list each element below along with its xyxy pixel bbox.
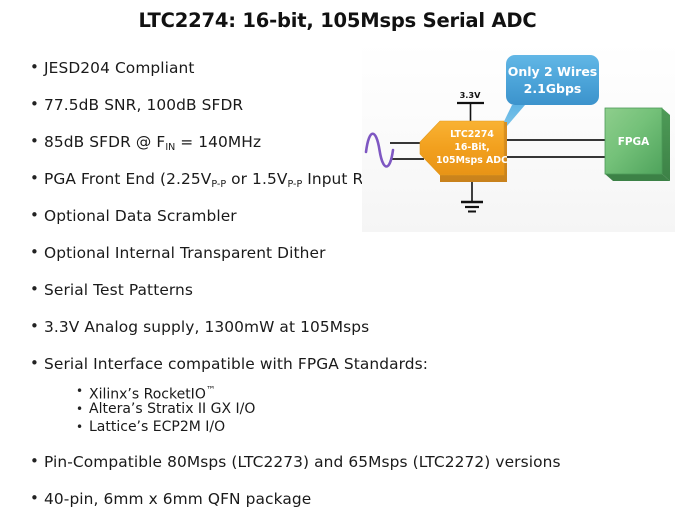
list-item-label: 40-pin, 6mm x 6mm QFN package (44, 489, 311, 509)
bullet-marker: • (30, 354, 44, 373)
list-item-label: 77.5dB SNR, 100dB SFDR (44, 95, 243, 115)
list-item-label: 85dB SFDR @ FIN = 140MHz (44, 132, 261, 155)
list-item: • Optional Internal Transparent Dither (30, 243, 670, 280)
bullet-marker: • (30, 280, 44, 299)
list-item-label: Optional Data Scrambler (44, 206, 237, 226)
list-item-label: Pin-Compatible 80Msps (LTC2273) and 65Ms… (44, 452, 561, 472)
callout-bubble: Only 2 Wires 2.1Gbps (495, 55, 599, 140)
bullet-marker: • (30, 58, 44, 77)
trademark-mark: ™ (206, 385, 216, 396)
bullet-marker: • (30, 132, 44, 151)
bullet-marker: • (30, 169, 44, 188)
fpga-block: FPGA (605, 108, 670, 181)
bullet-marker: • (30, 489, 44, 508)
fpga-label: FPGA (618, 136, 650, 148)
list-item: • 3.3V Analog supply, 1300mW at 105Msps (30, 317, 670, 354)
supply-rail: 3.3V (457, 90, 484, 121)
list-item: • Xilinx’s RocketIO™ (30, 382, 670, 400)
bullet-marker: • (76, 400, 89, 418)
block-diagram-svg: Only 2 Wires 2.1Gbps 3.3V LTC2274 16-Bit… (362, 42, 675, 232)
bullet-marker: • (30, 317, 44, 336)
list-item: • Serial Test Patterns (30, 280, 670, 317)
list-item: • Altera’s Stratix II GX I/O (30, 400, 670, 418)
bullet-marker: • (76, 418, 89, 436)
list-item: • Lattice’s ECP2M I/O (30, 418, 670, 436)
bullet-marker: • (30, 243, 44, 262)
subscript-pp: P-P (287, 179, 302, 190)
list-item-label: PGA Front End (2.25VP-P or 1.5VP-P Input… (44, 169, 408, 192)
adc-label-line-3: 105Msps ADC (436, 155, 508, 166)
text-part: or 1.5V (226, 170, 287, 188)
adc-block: LTC2274 16-Bit, 105Msps ADC (420, 121, 508, 182)
bullet-marker: • (76, 382, 89, 400)
sine-wave-icon (366, 134, 393, 167)
text-part: = 140MHz (175, 133, 261, 151)
list-item-label: Altera’s Stratix II GX I/O (89, 400, 255, 418)
text-part: 85dB SFDR @ F (44, 133, 165, 151)
callout-body (506, 55, 599, 105)
list-item-label: Serial Test Patterns (44, 280, 193, 300)
fpga-side-face (662, 108, 670, 181)
text-part: PGA Front End (2.25V (44, 170, 211, 188)
page-title: LTC2274: 16-bit, 105Msps Serial ADC (0, 9, 675, 32)
block-diagram: Only 2 Wires 2.1Gbps 3.3V LTC2274 16-Bit… (362, 42, 675, 232)
callout-line-1: Only 2 Wires (508, 64, 598, 79)
list-item-label: JESD204 Compliant (44, 58, 195, 78)
fpga-bottom-face (605, 174, 670, 181)
list-item: • Serial Interface compatible with FPGA … (30, 354, 670, 382)
supply-voltage-label: 3.3V (460, 90, 482, 100)
list-item-label: Serial Interface compatible with FPGA St… (44, 354, 428, 374)
adc-label-line-2: 16-Bit, (454, 142, 489, 153)
list-item: • 40-pin, 6mm x 6mm QFN package (30, 489, 670, 526)
bullet-marker: • (30, 206, 44, 225)
subscript-in: IN (165, 142, 175, 153)
ground-symbol-icon (461, 182, 483, 212)
list-item-label: Lattice’s ECP2M I/O (89, 418, 225, 436)
subscript-pp: P-P (211, 179, 226, 190)
bullet-marker: • (30, 452, 44, 471)
bullet-marker: • (30, 95, 44, 114)
list-item: • Pin-Compatible 80Msps (LTC2273) and 65… (30, 452, 670, 489)
adc-label-line-1: LTC2274 (450, 129, 494, 140)
callout-line-2: 2.1Gbps (524, 81, 582, 96)
list-item-label: 3.3V Analog supply, 1300mW at 105Msps (44, 317, 369, 337)
list-item-label: Optional Internal Transparent Dither (44, 243, 326, 263)
